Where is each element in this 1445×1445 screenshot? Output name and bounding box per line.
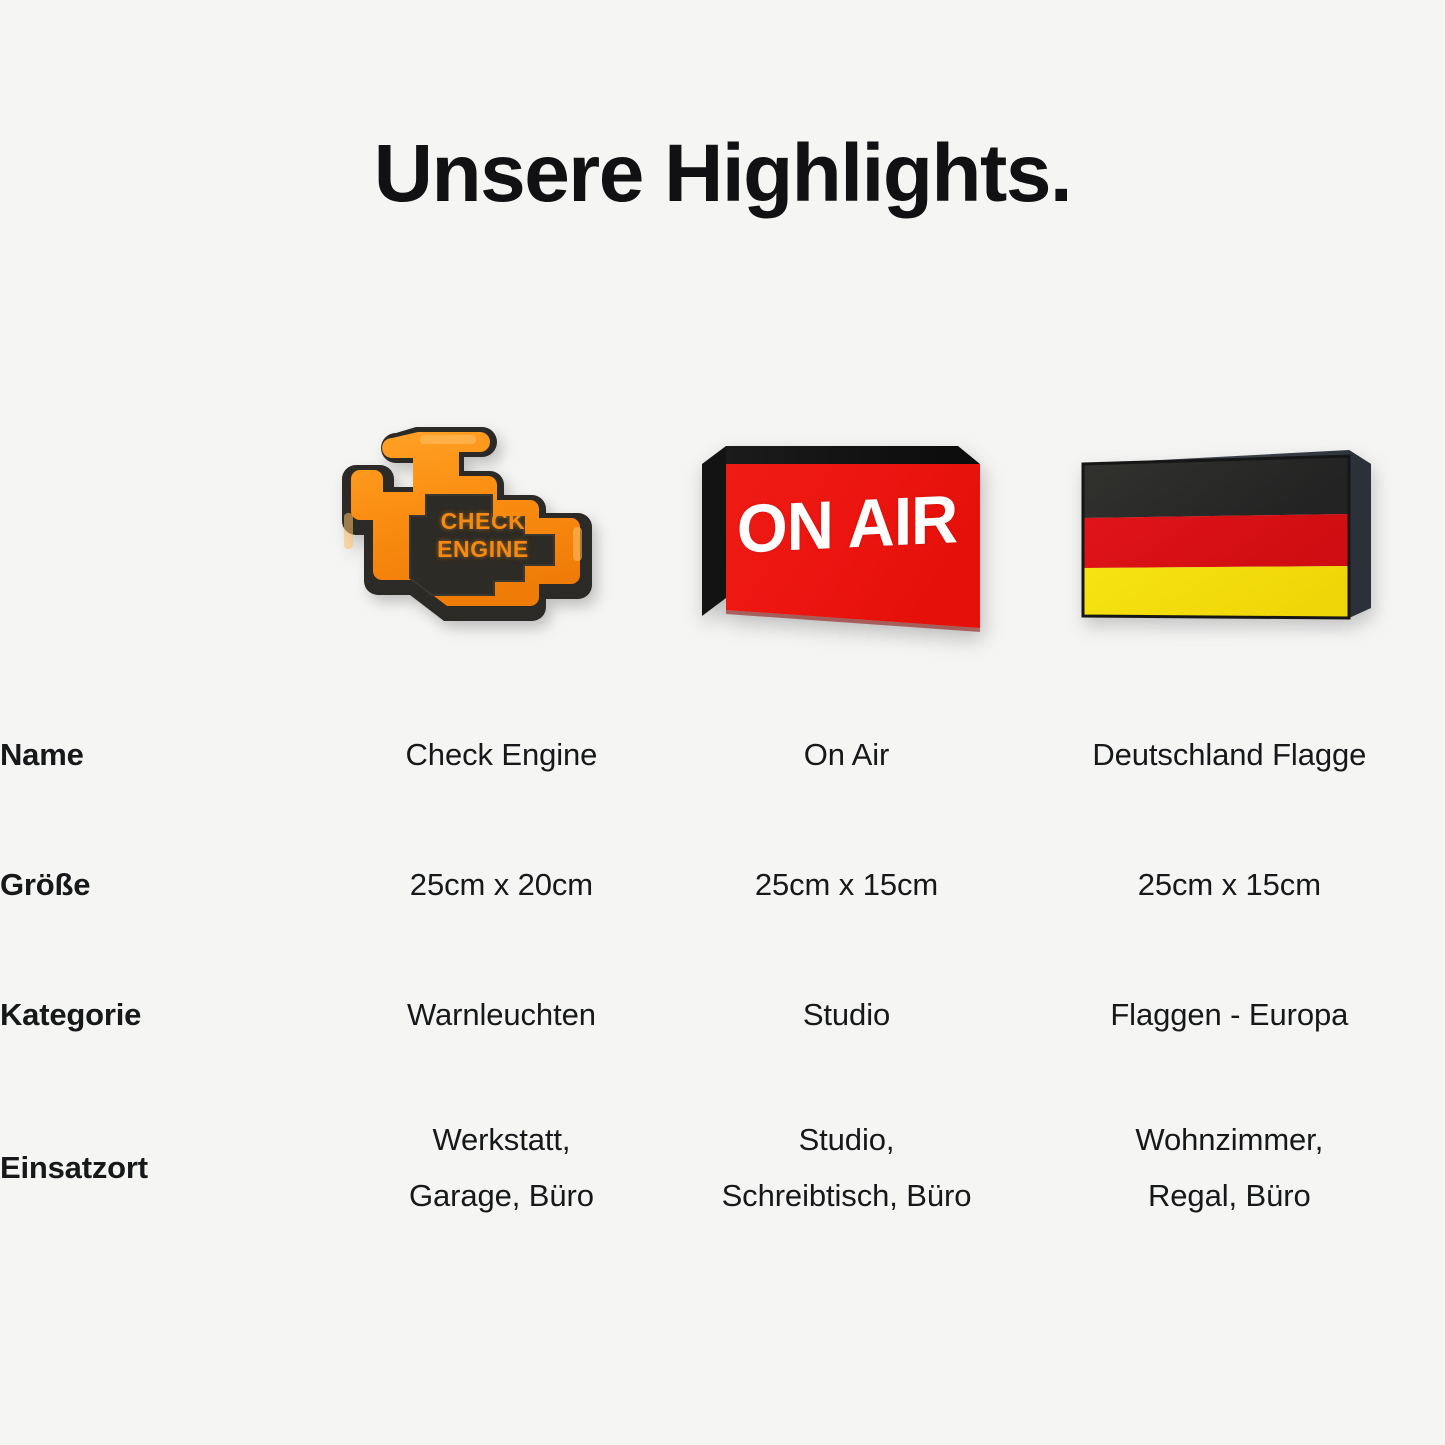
cell-groesse-on-air: 25cm x 15cm bbox=[679, 820, 1013, 950]
row-label-einsatzort: Einsatzort bbox=[0, 1080, 324, 1255]
german-flag-box-shape-icon bbox=[1075, 442, 1375, 632]
spec-table: Name Check Engine On Air Deutschland Fla… bbox=[0, 690, 1445, 1255]
on-air-lightbox-icon: ON AIR bbox=[696, 438, 984, 636]
cell-einsatzort-deutschland-flagge: Wohnzimmer, Regal, Büro bbox=[1014, 1080, 1445, 1255]
cell-line-1: Studio, bbox=[679, 1112, 1013, 1167]
table-row: Größe 25cm x 20cm 25cm x 15cm 25cm x 15c… bbox=[0, 820, 1445, 950]
cell-line-1: Werkstatt, bbox=[324, 1112, 680, 1167]
page-title: Unsere Highlights. bbox=[0, 131, 1445, 218]
product-image-deutschland-flagge[interactable] bbox=[1030, 412, 1420, 662]
cell-kategorie-deutschland-flagge: Flaggen - Europa bbox=[1014, 950, 1445, 1080]
cell-einsatzort-on-air: Studio, Schreibtisch, Büro bbox=[679, 1080, 1013, 1255]
cell-line-2: Regal, Büro bbox=[1014, 1168, 1445, 1223]
cell-kategorie-on-air: Studio bbox=[679, 950, 1013, 1080]
cell-line-1: Wohnzimmer, bbox=[1014, 1112, 1445, 1167]
highlights-page: Unsere Highlights. bbox=[0, 0, 1445, 1445]
cell-name-check-engine: Check Engine bbox=[324, 690, 680, 820]
cell-groesse-deutschland-flagge: 25cm x 15cm bbox=[1014, 820, 1445, 950]
check-engine-lamp-icon: CHECK ENGINE bbox=[330, 421, 650, 653]
table-row: Name Check Engine On Air Deutschland Fla… bbox=[0, 690, 1445, 820]
cell-name-deutschland-flagge: Deutschland Flagge bbox=[1014, 690, 1445, 820]
table-row: Kategorie Warnleuchten Studio Flaggen - … bbox=[0, 950, 1445, 1080]
check-engine-shape-icon bbox=[330, 421, 650, 653]
row-label-kategorie: Kategorie bbox=[0, 950, 324, 1080]
german-flag-lightbox-icon bbox=[1075, 442, 1375, 632]
table-row: Einsatzort Werkstatt, Garage, Büro Studi… bbox=[0, 1080, 1445, 1255]
row-label-name: Name bbox=[0, 690, 324, 820]
row-label-groesse: Größe bbox=[0, 820, 324, 950]
product-image-check-engine[interactable]: CHECK ENGINE bbox=[280, 412, 700, 662]
cell-line-2: Schreibtisch, Büro bbox=[679, 1168, 1013, 1223]
cell-groesse-check-engine: 25cm x 20cm bbox=[324, 820, 680, 950]
product-image-on-air[interactable]: ON AIR bbox=[660, 412, 1020, 662]
cell-name-on-air: On Air bbox=[679, 690, 1013, 820]
cell-kategorie-check-engine: Warnleuchten bbox=[324, 950, 680, 1080]
cell-line-2: Garage, Büro bbox=[324, 1168, 680, 1223]
on-air-box-shape-icon bbox=[696, 438, 984, 636]
product-image-strip: CHECK ENGINE bbox=[0, 412, 1445, 662]
cell-einsatzort-check-engine: Werkstatt, Garage, Büro bbox=[324, 1080, 680, 1255]
